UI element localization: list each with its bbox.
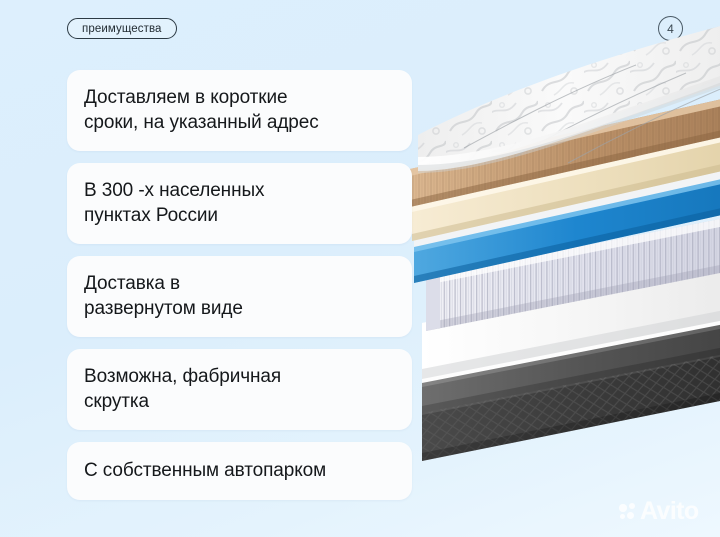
benefit-card-text: Доставляем в короткие сроки, на указанны…	[84, 85, 395, 135]
benefit-card-text: Возможна, фабричная скрутка	[84, 364, 395, 414]
mattress-cross-section-image	[400, 95, 720, 515]
benefit-card: Возможна, фабричная скрутка	[67, 349, 412, 430]
benefit-card: В 300 -х населенных пунктах России	[67, 163, 412, 244]
benefit-card-text: Доставка в развернутом виде	[84, 271, 395, 321]
avito-watermark-text: Avito	[640, 499, 699, 524]
layer-quilted-cover	[400, 17, 720, 187]
avito-watermark: Avito	[619, 499, 699, 524]
benefit-card-text: В 300 -х населенных пунктах России	[84, 178, 395, 228]
benefit-card: Доставка в развернутом виде	[67, 256, 412, 337]
section-badge: преимущества	[67, 18, 177, 39]
avito-dots-icon	[619, 503, 636, 520]
benefits-card-list: Доставляем в короткие сроки, на указанны…	[67, 70, 412, 500]
benefit-card: Доставляем в короткие сроки, на указанны…	[67, 70, 412, 151]
section-badge-label: преимущества	[82, 23, 162, 35]
benefit-card-text: С собственным автопарком	[84, 458, 395, 483]
slide-canvas: преимущества 4	[0, 0, 720, 537]
benefit-card: С собственным автопарком	[67, 442, 412, 500]
